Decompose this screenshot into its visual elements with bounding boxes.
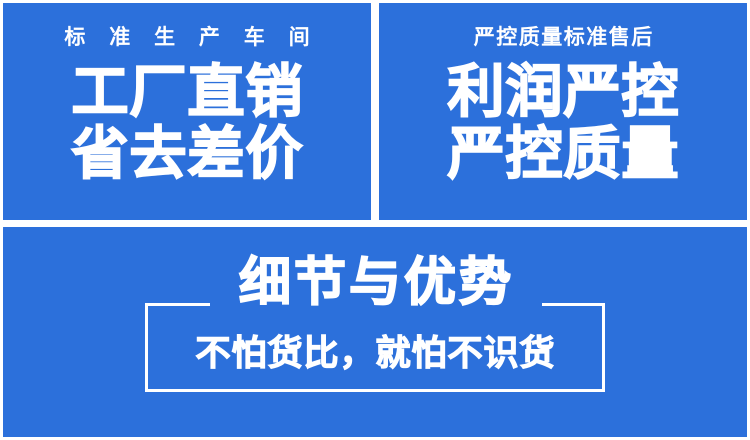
panel-quality-control-headline-line1: 利润严控	[447, 62, 680, 124]
panel-factory-direct: 标 准 生 产 车 间 工厂直销 省去差价	[3, 3, 371, 220]
panel-factory-direct-headline-line1: 工厂直销	[71, 62, 304, 124]
panel-details-advantages: 细节与优势 不怕货比，就怕不识货	[3, 227, 747, 437]
promo-banner: 标 准 生 产 车 间 工厂直销 省去差价 严控质量标准售后 利润严控 严控质量…	[0, 0, 750, 440]
panel-factory-direct-content: 标 准 生 产 车 间 工厂直销 省去差价	[3, 3, 371, 220]
details-advantages-title: 细节与优势	[3, 257, 747, 309]
panel-factory-direct-eyebrow: 标 准 生 产 车 间	[55, 27, 318, 48]
panel-quality-control-headline-line2: 严控质量	[447, 124, 680, 186]
panel-quality-control-eyebrow: 严控质量标准售后	[472, 27, 654, 48]
panel-quality-control: 严控质量标准售后 利润严控 严控质量	[379, 3, 747, 220]
panel-factory-direct-headline-line2: 省去差价	[71, 124, 304, 186]
panel-quality-control-content: 严控质量标准售后 利润严控 严控质量	[379, 3, 747, 220]
details-advantages-subtitle: 不怕货比，就怕不识货	[3, 336, 747, 371]
